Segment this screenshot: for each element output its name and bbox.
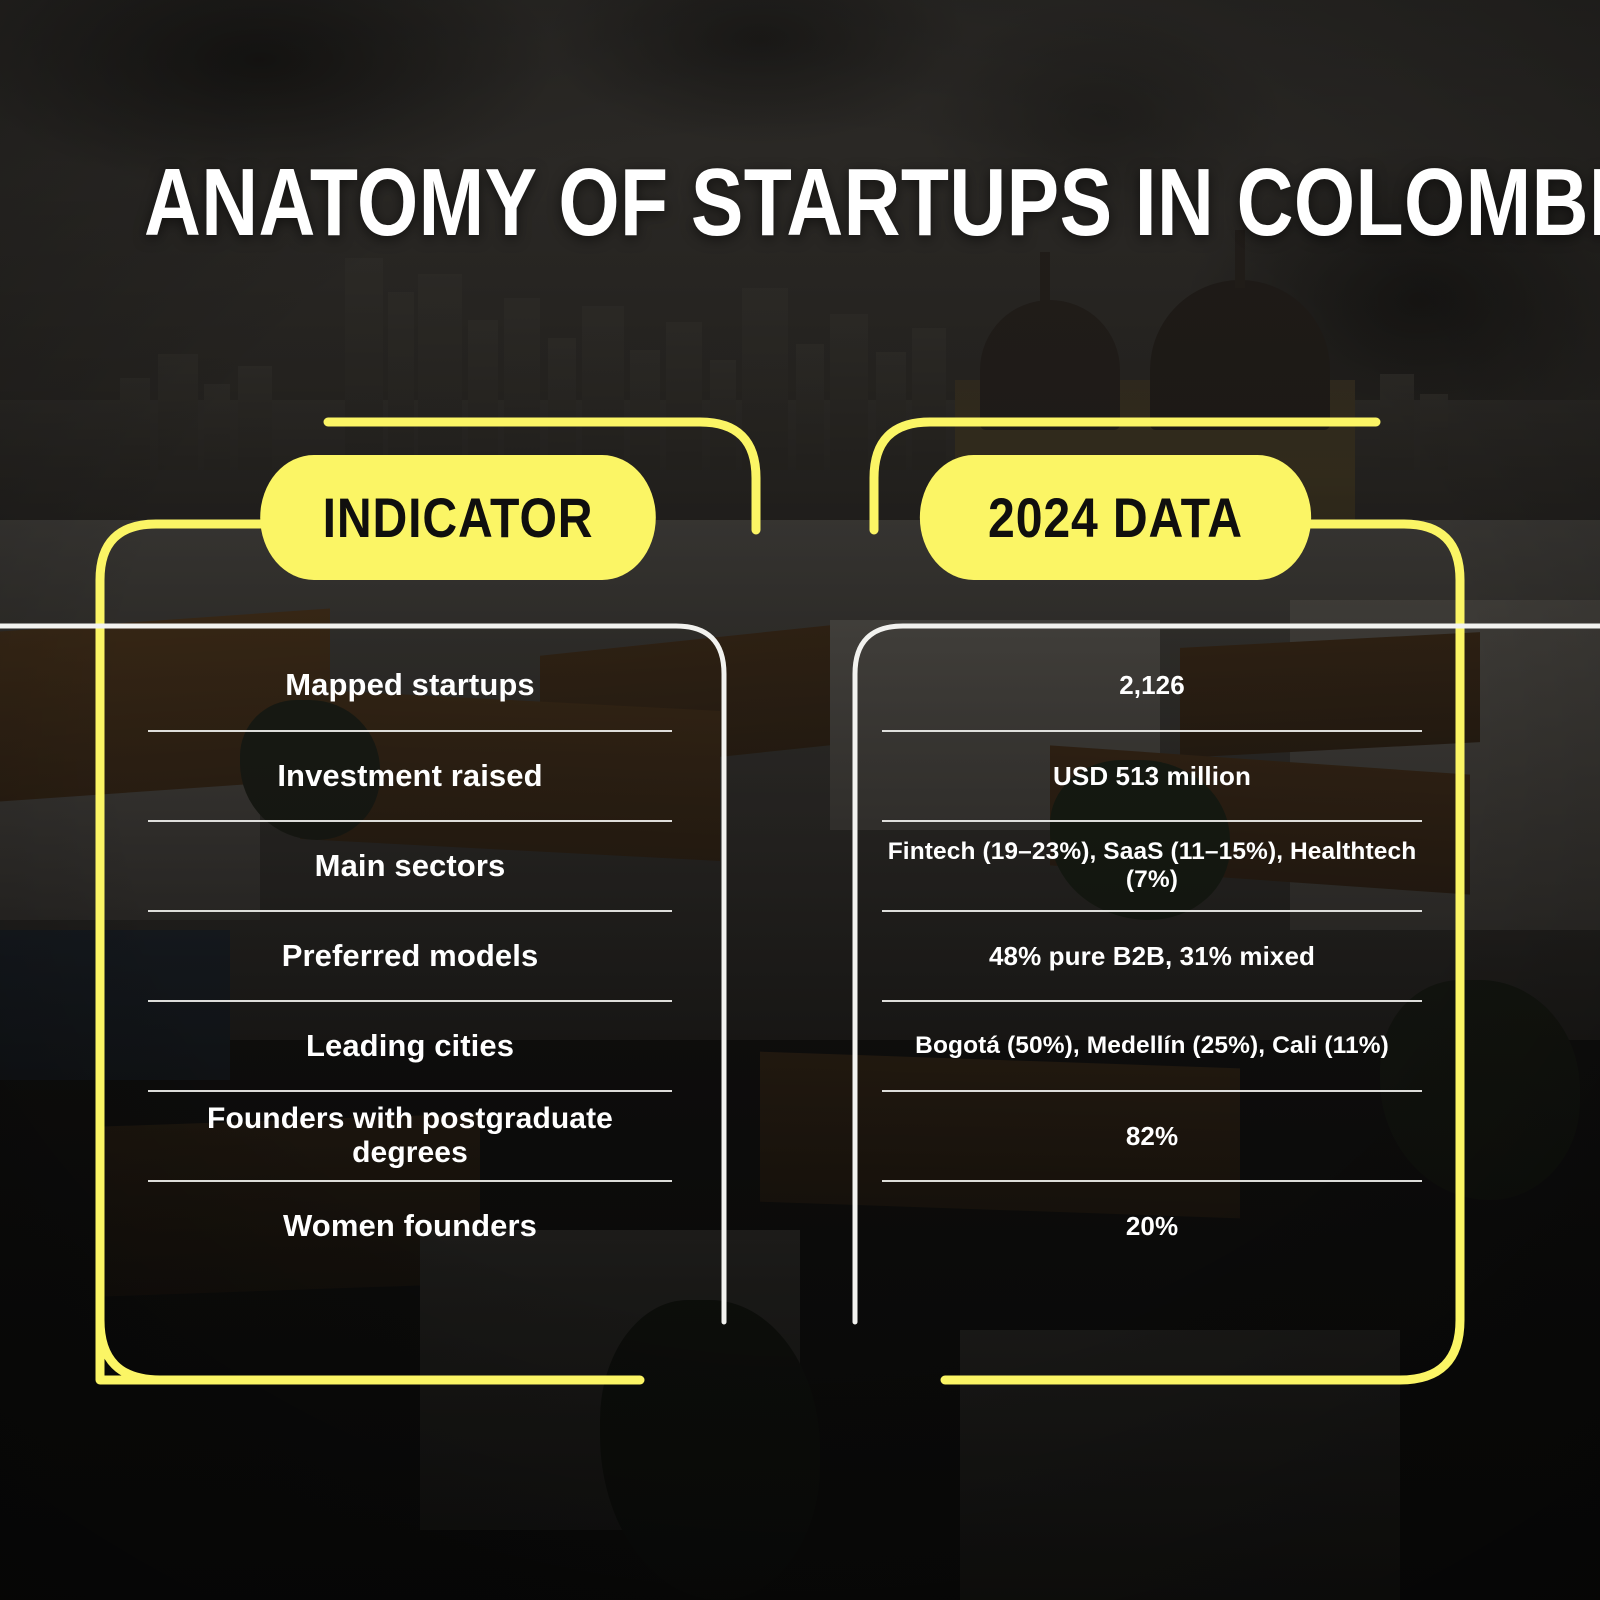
table-row: 48% pure B2B, 31% mixed bbox=[882, 912, 1422, 1000]
table-row: 82% bbox=[882, 1092, 1422, 1180]
row-divider bbox=[882, 820, 1422, 822]
table-row: Women founders bbox=[148, 1182, 672, 1270]
data-value: 2,126 bbox=[884, 670, 1420, 701]
page-title: ANATOMY OF STARTUPS IN COLOMBIA bbox=[144, 148, 1456, 258]
data-value: 82% bbox=[884, 1121, 1420, 1152]
indicator-column: Mapped startups Investment raised Main s… bbox=[148, 640, 672, 1270]
row-divider bbox=[148, 1090, 672, 1092]
indicator-label: Women founders bbox=[150, 1208, 670, 1244]
indicator-label: Leading cities bbox=[150, 1028, 670, 1064]
data-value: Bogotá (50%), Medellín (25%), Cali (11%) bbox=[884, 1032, 1420, 1060]
table-row: Leading cities bbox=[148, 1002, 672, 1090]
table-row: USD 513 million bbox=[882, 732, 1422, 820]
table-row: Founders with postgraduate degrees bbox=[148, 1092, 672, 1180]
row-divider bbox=[148, 1000, 672, 1002]
indicator-label: Main sectors bbox=[150, 848, 670, 884]
row-divider bbox=[882, 1000, 1422, 1002]
table-row: Mapped startups bbox=[148, 640, 672, 730]
row-divider bbox=[882, 1180, 1422, 1182]
row-divider bbox=[148, 820, 672, 822]
indicator-label: Founders with postgraduate degrees bbox=[150, 1102, 670, 1170]
data-value: USD 513 million bbox=[884, 761, 1420, 792]
table-row: Main sectors bbox=[148, 822, 672, 910]
table-row: Bogotá (50%), Medellín (25%), Cali (11%) bbox=[882, 1002, 1422, 1090]
column-header-2024-data: 2024 DATA bbox=[920, 455, 1311, 580]
row-divider bbox=[882, 730, 1422, 732]
row-divider bbox=[148, 1180, 672, 1182]
column-header-indicator: INDICATOR bbox=[260, 455, 656, 580]
row-divider bbox=[148, 910, 672, 912]
data-column: 2,126 USD 513 million Fintech (19–23%), … bbox=[882, 640, 1422, 1270]
table-row: Preferred models bbox=[148, 912, 672, 1000]
column-header-2024-data-label: 2024 DATA bbox=[988, 485, 1243, 550]
indicator-label: Preferred models bbox=[150, 938, 670, 974]
indicator-label: Investment raised bbox=[150, 758, 670, 794]
table-row: 2,126 bbox=[882, 640, 1422, 730]
data-value: 48% pure B2B, 31% mixed bbox=[884, 941, 1420, 972]
row-divider bbox=[148, 730, 672, 732]
table-row: 20% bbox=[882, 1182, 1422, 1270]
indicator-label: Mapped startups bbox=[150, 667, 670, 703]
table-row: Fintech (19–23%), SaaS (11–15%), Healtht… bbox=[882, 822, 1422, 910]
row-divider bbox=[882, 910, 1422, 912]
table-row: Investment raised bbox=[148, 732, 672, 820]
column-header-indicator-label: INDICATOR bbox=[323, 485, 594, 550]
data-value: 20% bbox=[884, 1211, 1420, 1242]
data-value: Fintech (19–23%), SaaS (11–15%), Healtht… bbox=[884, 838, 1420, 894]
row-divider bbox=[882, 1090, 1422, 1092]
